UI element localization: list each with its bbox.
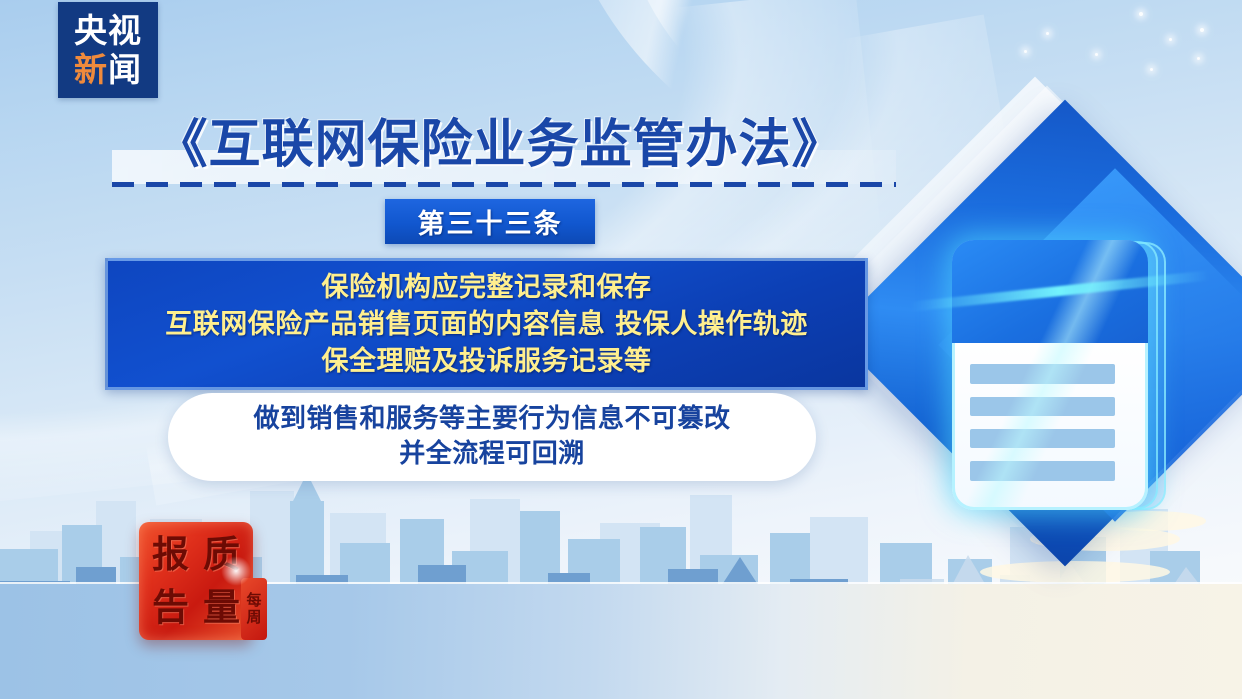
seal-side-char: 周: [246, 609, 261, 626]
seal-character: 量: [197, 582, 246, 633]
sparkle-dot: [1046, 32, 1049, 35]
broadcast-graphic-stage: 央视 新闻 《互联网保险业务监管办法》 第三十三条 保险机构应完整记录和保存 互…: [0, 0, 1242, 699]
headline-block: 《互联网保险业务监管办法》: [0, 112, 1000, 178]
logo-char-wen: 闻: [108, 50, 142, 89]
blue-panel-line: 互联网保险产品销售页面的内容信息 投保人操作轨迹: [165, 306, 807, 343]
white-panel-line: 做到销售和服务等主要行为信息不可篡改: [253, 402, 730, 437]
logo-line-news: 新闻: [74, 51, 142, 89]
blue-panel-line: 保险机构应完整记录和保存: [322, 269, 652, 306]
cctv-news-logo: 央视 新闻: [58, 2, 158, 98]
article-number-label: 第三十三条: [418, 202, 563, 241]
regulation-white-panel: 做到销售和服务等主要行为信息不可篡改 并全流程可回溯: [168, 393, 816, 481]
sparkle-dot: [1024, 50, 1027, 53]
seal-character: 告: [146, 582, 195, 633]
page-title: 《互联网保险业务监管办法》: [0, 112, 1000, 178]
sparkle-dot: [1150, 68, 1153, 71]
logo-char-xin: 新: [74, 50, 108, 89]
sparkle-dot: [1169, 38, 1172, 41]
blue-panel-line: 保全理赔及投诉服务记录等: [322, 343, 652, 380]
regulation-blue-panel: 保险机构应完整记录和保存 互联网保险产品销售页面的内容信息 投保人操作轨迹 保全…: [105, 258, 868, 390]
sparkle-dot: [1197, 57, 1200, 60]
seal-side-tab: 每 周: [241, 578, 267, 640]
title-dashed-underline: [112, 182, 896, 187]
sparkle-dot: [1200, 28, 1204, 32]
seal-light-flare: [221, 556, 251, 586]
white-panel-line: 并全流程可回溯: [399, 437, 585, 472]
sparkle-dot: [1139, 12, 1143, 16]
article-number-badge: 第三十三条: [385, 199, 595, 244]
seal-character: 报: [146, 529, 195, 580]
program-seal-stamp: 报 质 告 量 每 周: [139, 522, 253, 640]
logo-line-cctv: 央视: [74, 12, 142, 50]
sparkle-dot: [1095, 53, 1098, 56]
seal-side-char: 每: [246, 592, 261, 609]
